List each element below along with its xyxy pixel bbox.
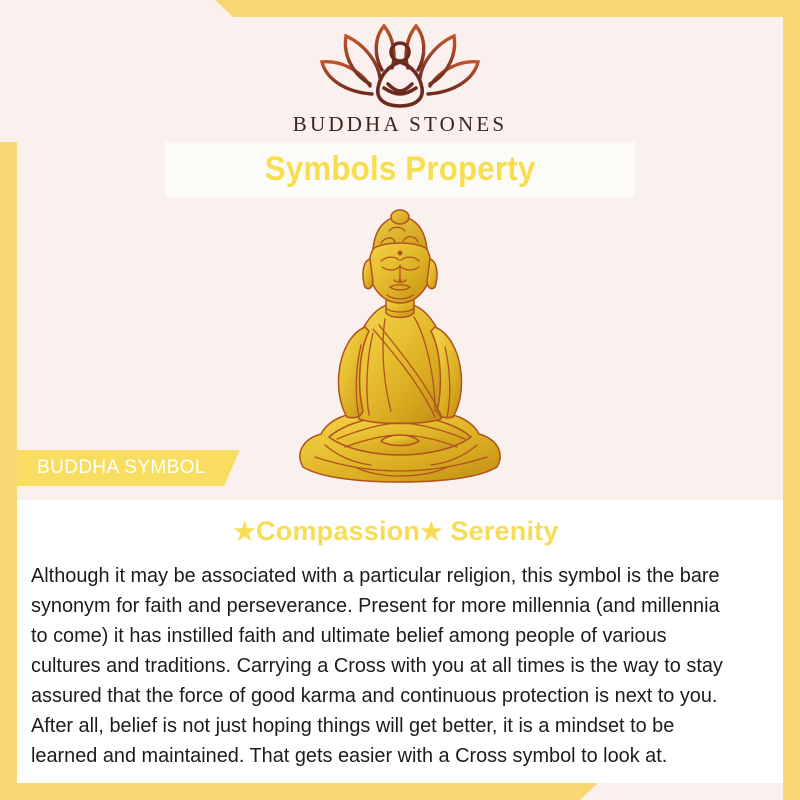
content-headline: ★Compassion★ Serenity — [31, 516, 761, 547]
decorative-band-top — [0, 0, 800, 17]
buddha-symbol-tag-label: BUDDHA SYMBOL — [37, 457, 206, 479]
buddha-symbol-tag: BUDDHA SYMBOL — [17, 450, 240, 486]
title-banner: Symbols Property — [165, 142, 635, 197]
page-title: Symbols Property — [265, 150, 536, 189]
star-icon-right: ★ — [420, 518, 443, 546]
headline-word-serenity: Serenity — [450, 516, 558, 546]
star-icon-left: ★ — [233, 518, 256, 546]
content-body-text: Although it may be associated with a par… — [31, 561, 739, 771]
brand-name: BUDDHA STONES — [0, 112, 800, 137]
brand-header: BUDDHA STONES — [0, 18, 800, 137]
content-card: ★Compassion★ Serenity Although it may be… — [17, 500, 783, 783]
seated-buddha-statue-icon — [285, 205, 515, 490]
decorative-band-bottom — [0, 783, 800, 800]
promo-page: BUDDHA STONES Symbols Property — [0, 0, 800, 800]
lotus-meditation-figure-icon — [310, 18, 490, 110]
headline-word-compassion: Compassion — [256, 516, 420, 546]
buddha-illustration — [0, 200, 800, 490]
